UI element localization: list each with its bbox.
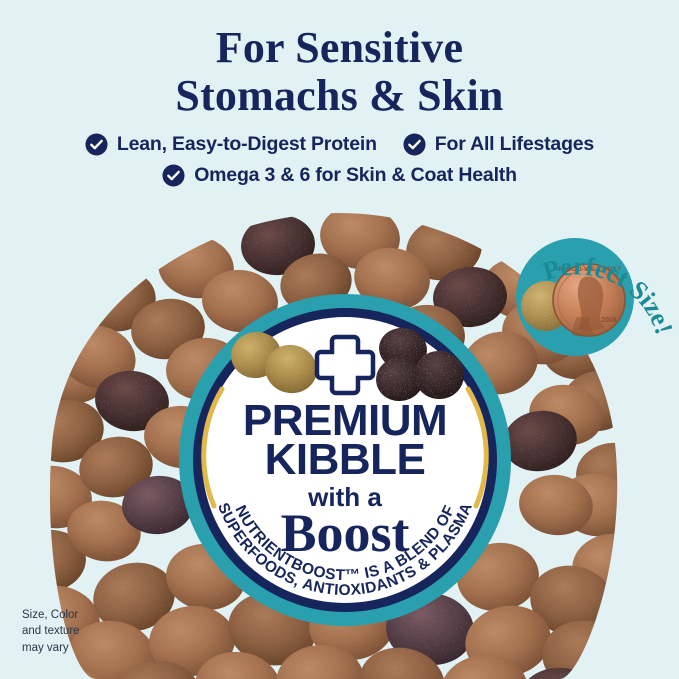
bullet-row-2: Omega 3 & 6 for Skin & Coat Health [0, 164, 679, 187]
badge-title-line-2: KIBBLE [265, 435, 426, 484]
disclaimer-line-3: may vary [22, 640, 80, 656]
bullet-lean-protein: Lean, Easy-to-Digest Protein [85, 133, 377, 156]
check-circle-icon [162, 164, 185, 187]
disclaimer-line-2: and texture [22, 623, 80, 639]
bullet-row-1: Lean, Easy-to-Digest Protein For All Lif… [0, 133, 679, 156]
bullet-label: Lean, Easy-to-Digest Protein [117, 133, 377, 156]
badge-wordmark: Boost [280, 503, 409, 563]
penny-year: 2008 [601, 317, 617, 324]
check-circle-icon [85, 133, 108, 156]
bullet-all-lifestages: For All Lifestages [403, 133, 594, 156]
bullet-label: For All Lifestages [435, 133, 594, 156]
check-circle-icon [403, 133, 426, 156]
page-title: For Sensitive Stomachs & Skin [0, 24, 679, 119]
product-feature-image: For Sensitive Stomachs & Skin Lean, Easy… [0, 0, 679, 679]
bullet-label: Omega 3 & 6 for Skin & Coat Health [194, 164, 517, 187]
premium-kibble-badge: PREMIUM KIBBLE with a Boost NUTRIENTBOOS… [178, 293, 512, 627]
headline-line-1: For Sensitive [216, 23, 463, 72]
bullet-omega-3-6: Omega 3 & 6 for Skin & Coat Health [162, 164, 517, 187]
perfect-size-callout: IN GOD WE TRUST 2008 Perfect Size! [489, 205, 679, 365]
disclaimer-line-1: Size, Color [22, 607, 80, 623]
disclaimer-text: Size, Color and texture may vary [22, 607, 80, 656]
feature-bullet-list: Lean, Easy-to-Digest Protein For All Lif… [0, 133, 679, 187]
headline-line-2: Stomachs & Skin [0, 72, 679, 120]
